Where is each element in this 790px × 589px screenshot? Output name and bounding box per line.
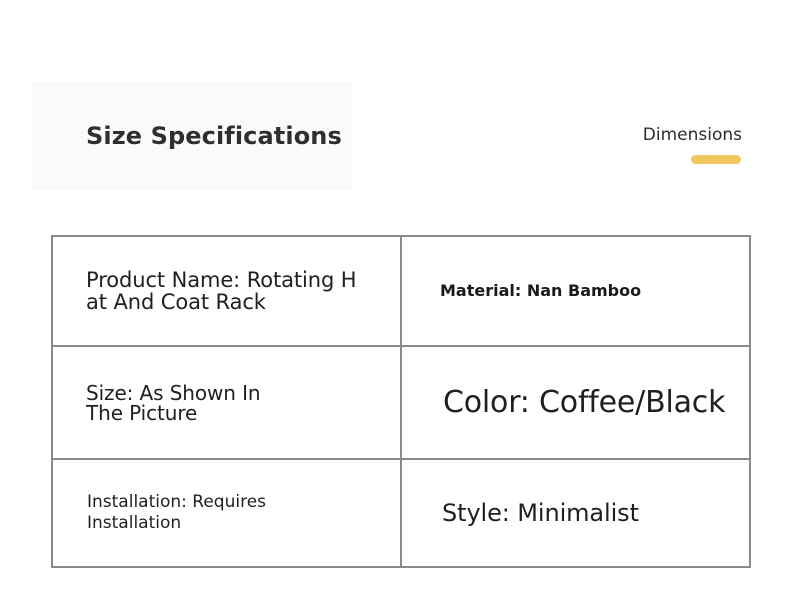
- spec-cell-style: Style: Minimalist: [401, 459, 750, 567]
- size-text: Size: As Shown In The Picture: [53, 383, 400, 423]
- material-text: Material: Nan Bamboo: [402, 280, 749, 302]
- product-name-line-2: at And Coat Rack: [86, 291, 392, 313]
- table-row: Size: As Shown In The Picture Color: Cof…: [52, 346, 750, 459]
- spec-cell-product-name: Product Name: Rotating H at And Coat Rac…: [52, 236, 401, 346]
- size-line-2: The Picture: [86, 403, 392, 423]
- product-name-text: Product Name: Rotating H at And Coat Rac…: [53, 269, 400, 313]
- installation-line-1: Installation: Requires: [87, 492, 266, 512]
- specifications-table: Product Name: Rotating H at And Coat Rac…: [51, 235, 751, 568]
- product-name-line-1: Product Name: Rotating H: [86, 268, 357, 292]
- color-text: Color: Coffee/Black: [402, 386, 749, 420]
- style-text: Style: Minimalist: [402, 499, 749, 527]
- dimensions-label: Dimensions: [560, 124, 742, 146]
- spec-cell-color: Color: Coffee/Black: [401, 346, 750, 459]
- accent-underline-bar: [691, 155, 741, 164]
- installation-line-2: Installation: [87, 513, 392, 534]
- spec-cell-size: Size: As Shown In The Picture: [52, 346, 401, 459]
- spec-cell-material: Material: Nan Bamboo: [401, 236, 750, 346]
- slide-canvas: Size Specifications Dimensions Product N…: [0, 0, 790, 589]
- table-row: Installation: Requires Installation Styl…: [52, 459, 750, 567]
- spec-cell-installation: Installation: Requires Installation: [52, 459, 401, 567]
- installation-text: Installation: Requires Installation: [53, 492, 400, 534]
- table-row: Product Name: Rotating H at And Coat Rac…: [52, 236, 750, 346]
- page-title: Size Specifications: [86, 119, 342, 153]
- header-right-group: Dimensions: [560, 124, 742, 164]
